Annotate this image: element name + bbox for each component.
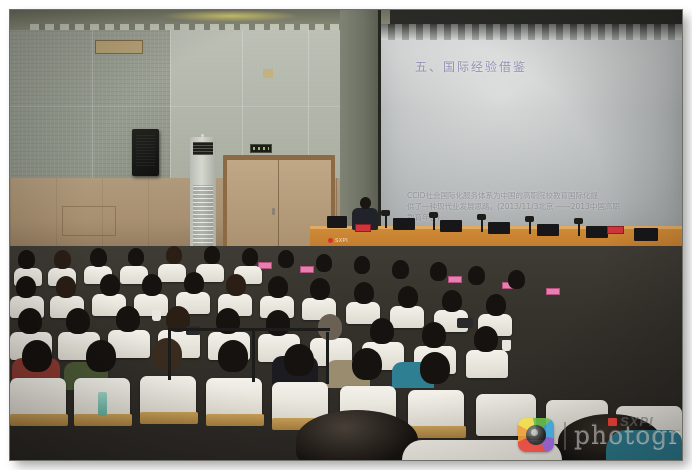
- wall-loudspeaker: [132, 129, 159, 176]
- seat-name-card: [546, 288, 560, 295]
- attendee-head: [128, 248, 144, 266]
- attendee-head: [486, 294, 506, 316]
- seat-name-card: [300, 266, 314, 273]
- aisle-railing: [168, 328, 330, 331]
- attendee-head: [56, 276, 76, 298]
- attendee-head: [354, 282, 374, 304]
- wall-vent-plate: [95, 40, 143, 54]
- wall-seam: [92, 28, 93, 180]
- attendee-head: [278, 250, 294, 268]
- brand-dot-icon: [328, 238, 333, 243]
- slide-footnote-line-2: 供了一种现代业发展思路。(2013/11/3北京 ——2013中国高职: [407, 201, 679, 212]
- exit-sign: [250, 144, 272, 153]
- attendee-head: [422, 322, 446, 348]
- dais-microphone-head: [525, 216, 534, 222]
- seat-armrest: [10, 414, 68, 426]
- attendee-head: [204, 246, 220, 264]
- seat-back: [408, 390, 464, 430]
- dais-logo-left-text: SXPI: [335, 238, 348, 244]
- attendee-head: [66, 308, 90, 334]
- name-card-speaker: [355, 224, 371, 232]
- dais-logo-left: SXPI: [328, 238, 348, 244]
- attendee-head: [310, 278, 330, 300]
- attendee-head: [226, 274, 246, 296]
- dais-microphone-head: [381, 210, 390, 216]
- dais-microphone: [433, 216, 435, 230]
- seat-back: [206, 378, 262, 418]
- attendee-head: [22, 340, 52, 372]
- dais-microphone-head: [477, 214, 486, 220]
- attendee-head: [352, 348, 382, 380]
- attendee-head: [116, 306, 140, 332]
- aisle-railing-post: [168, 328, 171, 380]
- attendee-head: [442, 290, 462, 312]
- attendee-head: [16, 276, 36, 298]
- photograph: 五、国际经验借鉴 CCID社会国际化服务体系为中国的高职院校教育国际化提 供了一…: [10, 10, 682, 460]
- screen-top-fold: [381, 24, 682, 40]
- attendee-head: [100, 274, 120, 296]
- dais-monitor: [634, 228, 658, 241]
- attendee-head: [430, 262, 447, 281]
- photo-frame: 五、国际经验借鉴 CCID社会国际化服务体系为中国的高职院校教育国际化提 供了一…: [0, 0, 692, 470]
- attendee-head: [474, 326, 498, 352]
- attendee-head: [420, 352, 450, 384]
- seat-name-card: [448, 276, 462, 283]
- watermark-brand: SXPI: [608, 414, 654, 429]
- watermark-divider: [564, 422, 566, 450]
- dais-microphone: [481, 218, 483, 232]
- door-center-seam: [278, 160, 279, 256]
- dais-microphone-head: [574, 218, 583, 224]
- ceiling-vent-strip: [30, 24, 390, 30]
- seat-back: [390, 306, 424, 328]
- brand-mark-icon: [608, 418, 617, 426]
- paper-cup: [502, 340, 511, 351]
- slide-footnote-line-1: CCID社会国际化服务体系为中国的高职院校教育国际化提: [407, 190, 679, 201]
- wall-seam: [170, 28, 171, 180]
- seat-back: [134, 294, 168, 316]
- dais-microphone: [578, 222, 580, 236]
- attendee-head: [218, 340, 248, 372]
- slide-title: 五、国际经验借鉴: [415, 58, 527, 75]
- attendee-head: [90, 248, 107, 267]
- attendee-head: [316, 254, 332, 272]
- attendee-head: [370, 318, 394, 344]
- air-conditioner-led: [201, 134, 204, 137]
- attendee-head: [266, 310, 290, 336]
- seat-back: [10, 378, 66, 418]
- attendee-head: [54, 250, 71, 269]
- watermark-brand-text: SXPI: [620, 414, 654, 429]
- seat-back: [466, 350, 508, 378]
- attendee-head: [268, 276, 288, 298]
- dais-microphone-head: [429, 212, 438, 218]
- attendee-head: [142, 274, 162, 296]
- aisle-railing-post: [326, 332, 329, 384]
- aisle-railing-post: [252, 330, 255, 382]
- air-conditioner-display: [193, 142, 213, 155]
- camera-icon: [518, 418, 554, 452]
- dais-microphone: [529, 220, 531, 234]
- attendee-head: [18, 308, 42, 334]
- watermark: photography SXPI: [510, 414, 682, 460]
- seat-back: [158, 264, 186, 282]
- air-conditioner-vent: [193, 185, 213, 255]
- door-handle[interactable]: [272, 208, 275, 215]
- paper-cup: [152, 310, 161, 321]
- ceiling-light-glow: [160, 10, 300, 22]
- attendee-head: [354, 256, 370, 274]
- dais-monitor: [488, 222, 510, 234]
- attendee-head: [392, 260, 409, 279]
- attendee-head: [398, 286, 418, 308]
- head-table-speaker-head: [360, 197, 371, 209]
- camera-device: [457, 318, 473, 328]
- attendee-head: [86, 340, 116, 372]
- dais-microphone: [385, 214, 387, 228]
- dais-monitor: [537, 224, 559, 236]
- attendee-head: [242, 248, 258, 266]
- attendee-head: [152, 338, 182, 370]
- dais-monitor: [393, 218, 415, 230]
- seat-armrest: [140, 412, 198, 424]
- wall-scuff-outline: [62, 206, 116, 236]
- seat-back: [140, 376, 196, 416]
- attendee-head: [166, 246, 182, 264]
- wall-seam: [10, 106, 390, 107]
- dais-monitor: [327, 216, 347, 228]
- water-bottle: [98, 392, 107, 416]
- wall-fixture: [263, 69, 273, 78]
- dais-monitor: [440, 220, 462, 232]
- seat-armrest: [206, 414, 264, 426]
- attendee-head-gray: [318, 314, 342, 340]
- name-card-dais: [607, 226, 624, 234]
- attendee-head: [284, 344, 314, 376]
- attendee-head: [468, 266, 485, 285]
- attendee-head: [508, 270, 525, 289]
- slide-footnote: CCID社会国际化服务体系为中国的高职院校教育国际化提 供了一种现代业发展思路。…: [407, 190, 679, 223]
- attendee-head: [18, 250, 35, 269]
- dais-monitor: [586, 226, 608, 238]
- attendee-head: [184, 272, 204, 294]
